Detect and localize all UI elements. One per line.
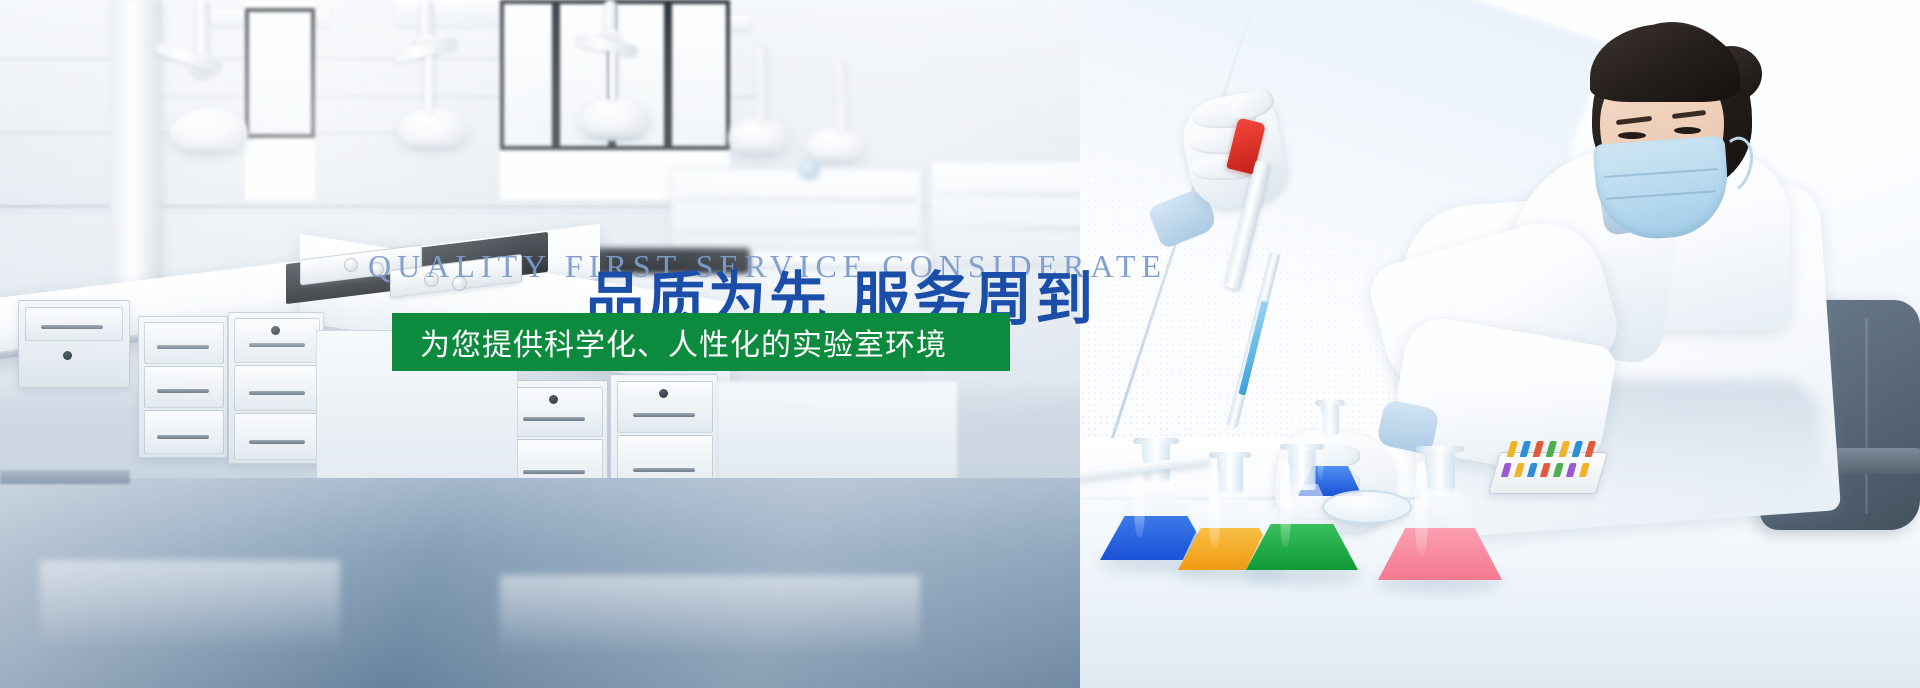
text-overlay: QUALITY FIRST SERVICE CONSIDERATE 品质为先服务… (0, 0, 1920, 688)
hero-banner: QUALITY FIRST SERVICE CONSIDERATE 品质为先服务… (0, 0, 1920, 688)
subtitle-text: 为您提供科学化、人性化的实验室环境 (392, 320, 947, 364)
subtitle-green-bar: 为您提供科学化、人性化的实验室环境 (392, 313, 1010, 371)
